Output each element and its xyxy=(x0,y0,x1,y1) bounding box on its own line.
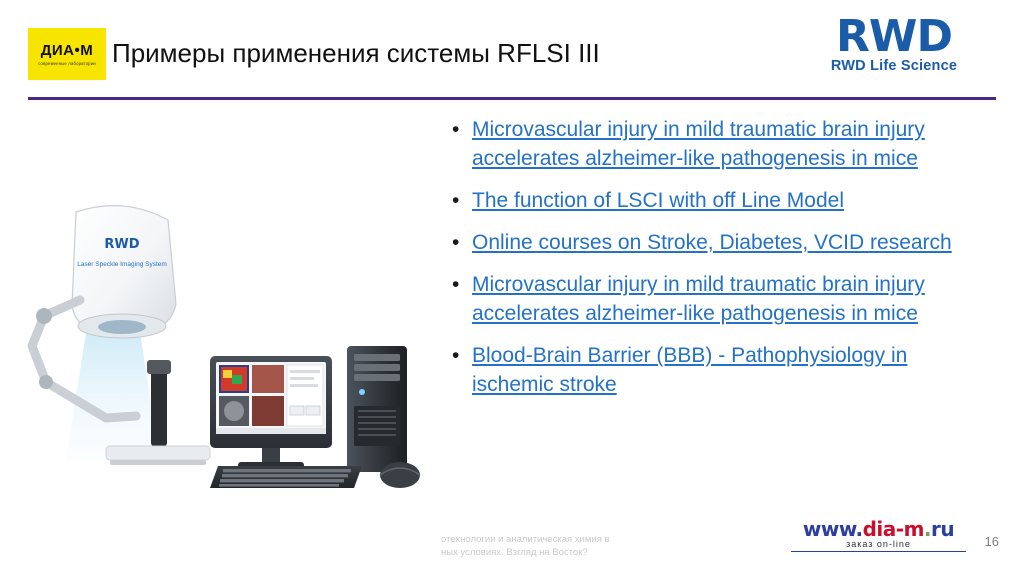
diam-logo: ДИА•М современные лаборатории xyxy=(28,28,106,80)
list-item: • Microvascular injury in mild traumatic… xyxy=(452,115,972,173)
list-item: • Blood-Brain Barrier (BBB) - Pathophysi… xyxy=(452,341,972,399)
bullet-link[interactable]: The function of LSCI with off Line Model xyxy=(472,186,844,215)
rwd-logo: RWD RWD Life Science xyxy=(794,14,994,74)
site-url-ru: ru xyxy=(931,517,954,541)
bullet-marker: • xyxy=(452,115,472,173)
site-url-www: www. xyxy=(803,517,863,541)
rwd-logo-mark: RWD xyxy=(794,14,994,60)
site-url-dia: dia-m xyxy=(863,517,924,541)
diam-logo-text: ДИА•М xyxy=(41,43,94,58)
bullet-marker: • xyxy=(452,186,472,215)
bullet-marker: • xyxy=(452,270,472,328)
header-divider xyxy=(28,97,996,100)
site-url-dot: . xyxy=(924,517,931,541)
site-logo[interactable]: www.dia-m.ru заказ on-line xyxy=(791,517,966,553)
rwd-logo-subtext: RWD Life Science xyxy=(794,58,994,74)
site-url: www.dia-m.ru xyxy=(791,517,966,541)
list-item: • Online courses on Stroke, Diabetes, VC… xyxy=(452,228,972,257)
page-title: Примеры применения системы RFLSI III xyxy=(112,38,600,69)
svg-text:Laser Speckle Imaging System: Laser Speckle Imaging System xyxy=(77,261,167,268)
bullet-link[interactable]: Online courses on Stroke, Diabetes, VCID… xyxy=(472,228,952,257)
bullet-marker: • xyxy=(452,341,472,399)
diam-logo-subtext: современные лаборатории xyxy=(38,61,96,66)
svg-text:RWD: RWD xyxy=(104,237,139,252)
page-number: 16 xyxy=(985,534,999,549)
bullet-list: • Microvascular injury in mild traumatic… xyxy=(452,115,972,412)
list-item: • The function of LSCI with off Line Mod… xyxy=(452,186,972,215)
bullet-marker: • xyxy=(452,228,472,257)
bullet-link[interactable]: Microvascular injury in mild traumatic b… xyxy=(472,270,972,328)
product-photo: RWD Laser Speckle Imaging System xyxy=(10,170,440,490)
bullet-link[interactable]: Blood-Brain Barrier (BBB) - Pathophysiol… xyxy=(472,341,972,399)
footer-note: отехнологии и аналитическая химия в ных … xyxy=(441,533,681,559)
bullet-link[interactable]: Microvascular injury in mild traumatic b… xyxy=(472,115,972,173)
footer-note-line1: отехнологии и аналитическая химия в xyxy=(441,533,681,546)
list-item: • Microvascular injury in mild traumatic… xyxy=(452,270,972,328)
site-logo-underline xyxy=(791,551,966,553)
footer-note-line2: ных условиях. Взгляд на Восток? xyxy=(441,546,681,559)
imaging-system-illustration: RWD Laser Speckle Imaging System xyxy=(10,170,440,490)
